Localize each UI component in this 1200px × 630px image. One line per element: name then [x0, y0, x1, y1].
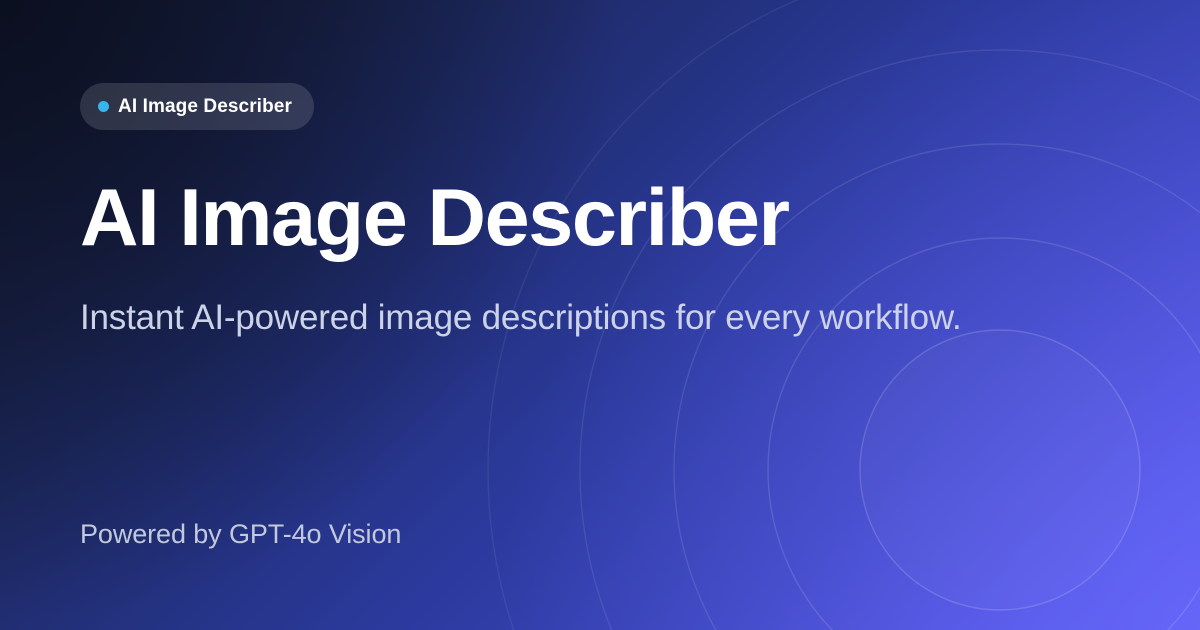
page-subtitle: Instant AI-powered image descriptions fo…: [80, 296, 962, 340]
product-badge-label: AI Image Describer: [118, 96, 292, 118]
status-dot-icon: [98, 101, 109, 112]
page-title: AI Image Describer: [80, 178, 789, 259]
og-card: AI Image Describer AI Image Describer In…: [0, 0, 1200, 630]
card-content: AI Image Describer AI Image Describer In…: [80, 0, 1140, 630]
powered-by-label: Powered by GPT-4o Vision: [80, 518, 401, 550]
product-badge: AI Image Describer: [80, 83, 314, 130]
